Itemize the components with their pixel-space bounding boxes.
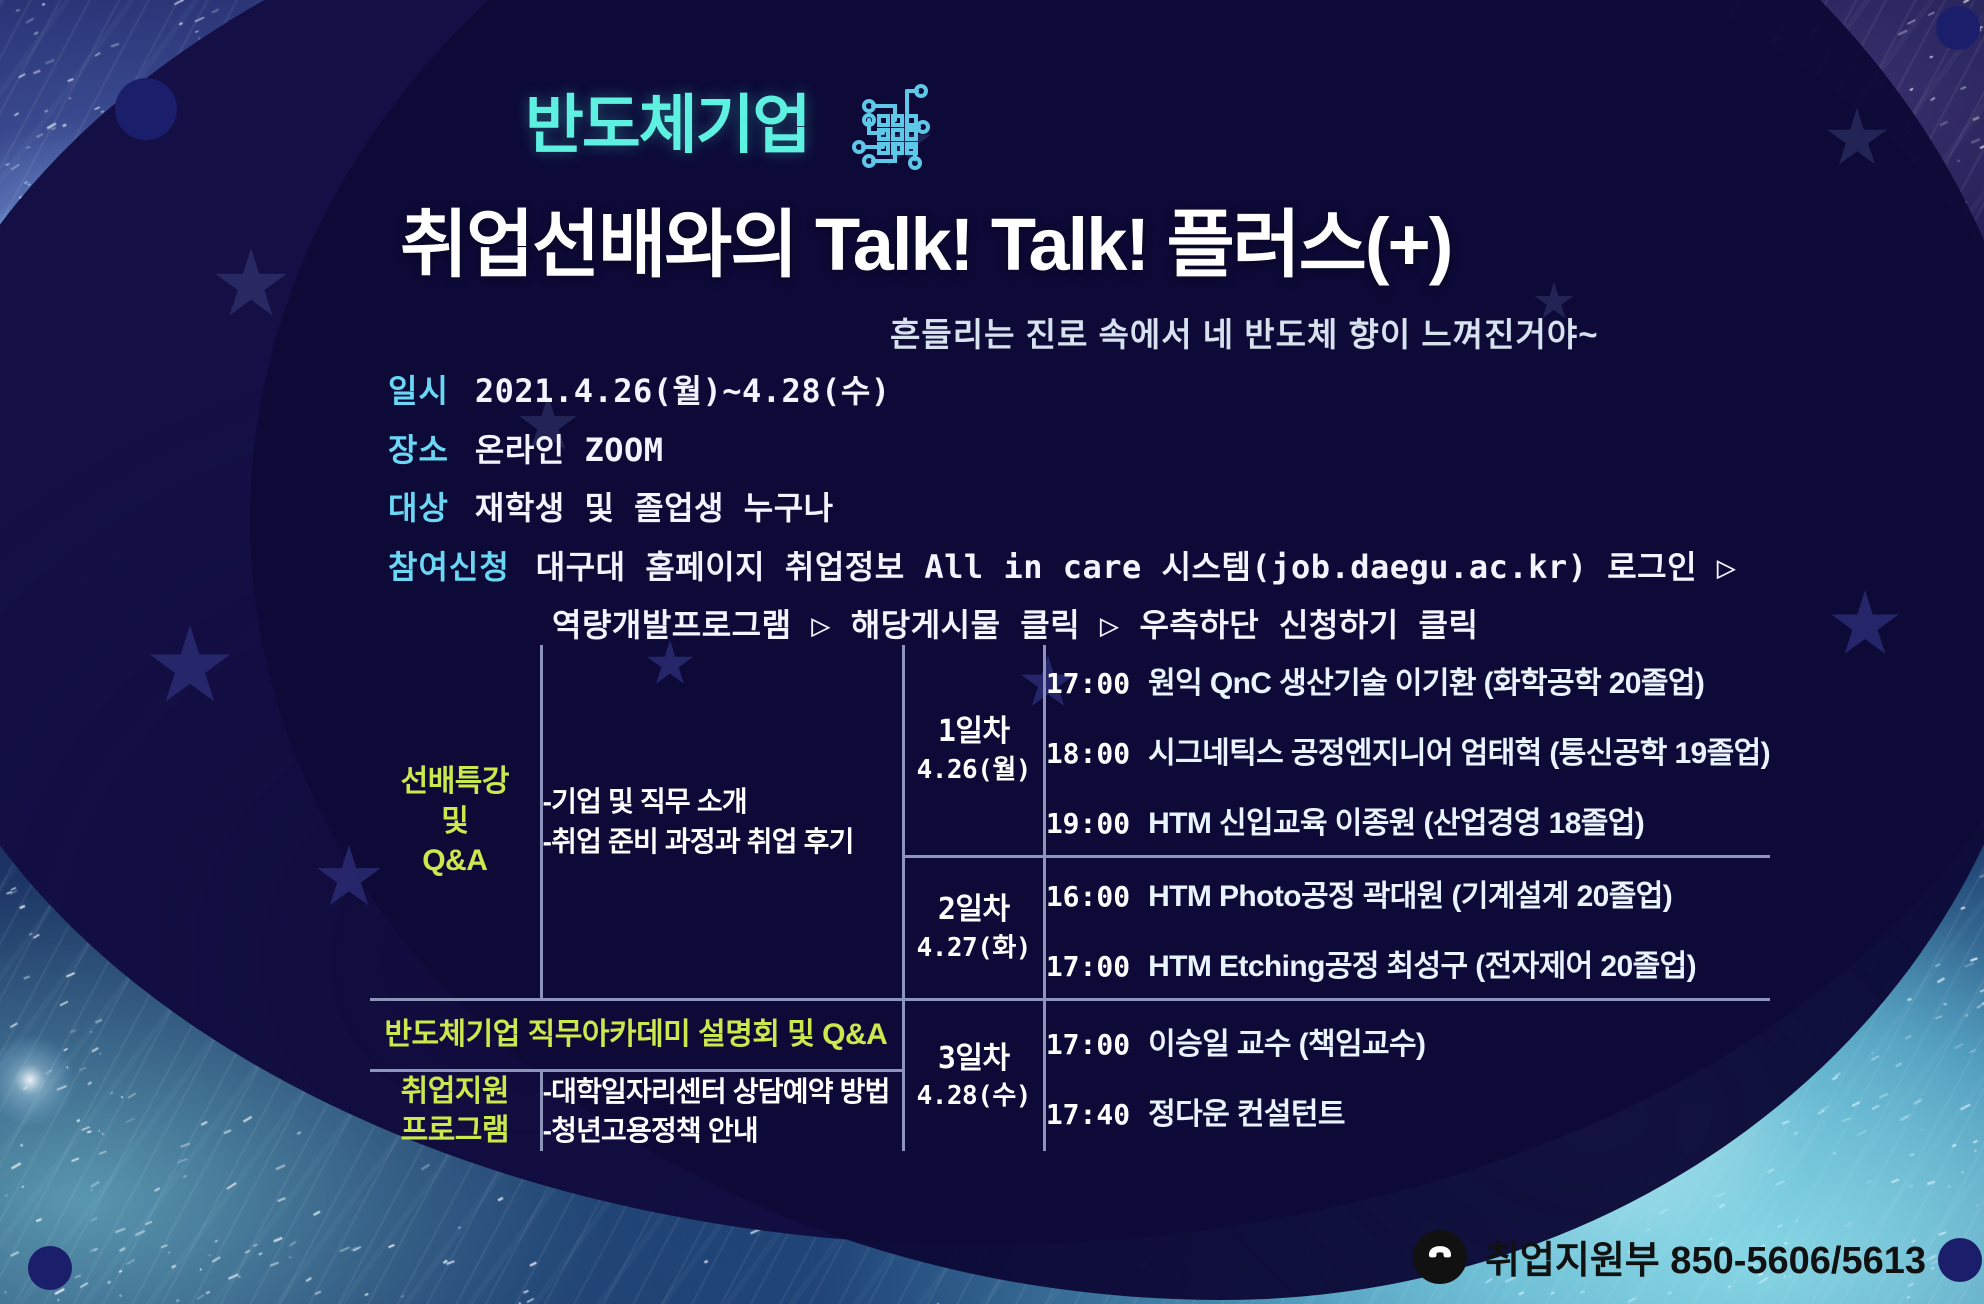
info-label: 참여신청 bbox=[388, 546, 510, 589]
session-time: 17:00 bbox=[1046, 950, 1130, 983]
cell-day-1: 1일차 4.26(월) bbox=[903, 645, 1044, 857]
session-item: 18:00 시그네틱스 공정엔지니어 엄태혁 (통신공학 19졸업) bbox=[1046, 715, 1770, 785]
session-item: 17:00 HTM Etching공정 최성구 (전자제어 20졸업) bbox=[1046, 928, 1770, 998]
info-row-apply: 참여신청 대구대 홈페이지 취업정보 All in care 시스템(job.d… bbox=[388, 546, 1737, 589]
category-line: 취업지원 bbox=[370, 1072, 540, 1112]
session-time: 19:00 bbox=[1046, 807, 1130, 840]
phone-handset-icon bbox=[1423, 1240, 1457, 1274]
phone-icon bbox=[1413, 1230, 1467, 1284]
session-item: 17:00 원익 QnC 생산기술 이기환 (화학공학 20졸업) bbox=[1046, 645, 1770, 715]
session-item: 19:00 HTM 신입교육 이종원 (산업경영 18졸업) bbox=[1046, 785, 1770, 855]
session-detail: 이승일 교수 (책임교수) bbox=[1148, 1019, 1425, 1063]
cell-day-2: 2일차 4.27(화) bbox=[903, 857, 1044, 1000]
info-label: 일시 bbox=[388, 370, 449, 413]
schedule-table: 선배특강 및 Q&A -기업 및 직무 소개 -취업 준비 과정과 취업 후기 … bbox=[370, 645, 1770, 1151]
info-apply-line2: 역량개발프로그램 ▷ 해당게시물 클릭 ▷ 우측하단 신청하기 클릭 bbox=[552, 604, 1737, 647]
session-detail: HTM Photo공정 곽대원 (기계설계 20졸업) bbox=[1148, 871, 1672, 915]
info-block: 일시 2021.4.26(월)~4.28(수) 장소 온라인 ZOOM 대상 재… bbox=[388, 370, 1737, 647]
description-line: -청년고용정책 안내 bbox=[543, 1111, 902, 1151]
cell-day-3: 3일차 4.28(수) bbox=[903, 1000, 1044, 1152]
day-date: 4.26(월) bbox=[905, 753, 1043, 788]
day-label: 1일차 bbox=[905, 712, 1043, 752]
table-row: 선배특강 및 Q&A -기업 및 직무 소개 -취업 준비 과정과 취업 후기 … bbox=[370, 645, 1770, 857]
session-detail: HTM Etching공정 최성구 (전자제어 20졸업) bbox=[1148, 941, 1696, 985]
session-time: 16:00 bbox=[1046, 880, 1130, 913]
info-label: 대상 bbox=[388, 487, 449, 530]
session-time: 17:00 bbox=[1046, 667, 1130, 700]
semiconductor-chip-icon bbox=[831, 75, 935, 175]
description-line: -취업 준비 과정과 취업 후기 bbox=[543, 822, 902, 862]
category-line: 및 bbox=[370, 802, 540, 842]
poster-kicker-row: 반도체기업 bbox=[525, 75, 935, 175]
info-value: 2021.4.26(월)~4.28(수) bbox=[475, 370, 891, 413]
info-label: 장소 bbox=[388, 429, 449, 472]
table-row: 반도체기업 직무아카데미 설명회 및 Q&A 3일차 4.28(수) 17:00… bbox=[370, 1000, 1770, 1071]
session-detail: 시그네틱스 공정엔지니어 엄태혁 (통신공학 19졸업) bbox=[1148, 728, 1770, 772]
poster-root: 반도체기업 bbox=[0, 0, 1984, 1304]
description-line: -대학일자리센터 상담예약 방법 bbox=[543, 1072, 902, 1112]
session-item: 17:00 이승일 교수 (책임교수) bbox=[1046, 1006, 1770, 1076]
cell-sessions-day-1: 17:00 원익 QnC 생산기술 이기환 (화학공학 20졸업) 18:00 … bbox=[1044, 645, 1770, 857]
day-date: 4.27(화) bbox=[905, 931, 1043, 966]
session-item: 16:00 HTM Photo공정 곽대원 (기계설계 20졸업) bbox=[1046, 858, 1770, 928]
cell-job-academy-header: 반도체기업 직무아카데미 설명회 및 Q&A bbox=[370, 1000, 903, 1071]
session-item: 17:40 정다운 컨설턴트 bbox=[1046, 1076, 1770, 1146]
category-line: 프로그램 bbox=[370, 1111, 540, 1151]
footer-contact-text: 취업지원부 850-5606/5613 bbox=[1485, 1229, 1926, 1284]
info-row-place: 장소 온라인 ZOOM bbox=[388, 429, 1737, 472]
session-detail: 원익 QnC 생산기술 이기환 (화학공학 20졸업) bbox=[1148, 658, 1704, 702]
cell-description-support-program: -대학일자리센터 상담예약 방법 -청년고용정책 안내 bbox=[541, 1070, 903, 1151]
cell-sessions-day-3: 17:00 이승일 교수 (책임교수) 17:40 정다운 컨설턴트 bbox=[1044, 1000, 1770, 1152]
day-date: 4.28(수) bbox=[905, 1079, 1043, 1114]
session-time: 18:00 bbox=[1046, 737, 1130, 770]
cell-description-mentor-talk: -기업 및 직무 소개 -취업 준비 과정과 취업 후기 bbox=[541, 645, 903, 1000]
cell-category-support-program: 취업지원 프로그램 bbox=[370, 1070, 541, 1151]
session-detail: 정다운 컨설턴트 bbox=[1148, 1089, 1345, 1133]
info-value: 대구대 홈페이지 취업정보 All in care 시스템(job.daegu.… bbox=[536, 546, 1737, 589]
info-value: 재학생 및 졸업생 누구나 bbox=[475, 487, 834, 530]
session-detail: HTM 신입교육 이종원 (산업경영 18졸업) bbox=[1148, 798, 1644, 842]
session-time: 17:00 bbox=[1046, 1028, 1130, 1061]
poster-kicker: 반도체기업 bbox=[525, 93, 809, 157]
day-label: 2일차 bbox=[905, 890, 1043, 930]
category-line: 선배특강 bbox=[370, 762, 540, 802]
info-value: 온라인 ZOOM bbox=[475, 429, 664, 472]
cell-category-mentor-talk: 선배특강 및 Q&A bbox=[370, 645, 541, 1000]
description-line: -기업 및 직무 소개 bbox=[543, 782, 902, 822]
footer-contact: 취업지원부 850-5606/5613 bbox=[1413, 1229, 1926, 1284]
poster-title: 취업선배와의 Talk! Talk! 플러스(+) bbox=[400, 185, 1451, 292]
poster-tagline: 흔들리는 진로 속에서 네 반도체 향이 느껴진거야~ bbox=[890, 308, 1598, 356]
info-row-audience: 대상 재학생 및 졸업생 누구나 bbox=[388, 487, 1737, 530]
category-line: Q&A bbox=[370, 841, 540, 881]
cell-sessions-day-2: 16:00 HTM Photo공정 곽대원 (기계설계 20졸업) 17:00 … bbox=[1044, 857, 1770, 1000]
info-row-datetime: 일시 2021.4.26(월)~4.28(수) bbox=[388, 370, 1737, 413]
session-time: 17:40 bbox=[1046, 1098, 1130, 1131]
day-label: 3일차 bbox=[905, 1039, 1043, 1079]
